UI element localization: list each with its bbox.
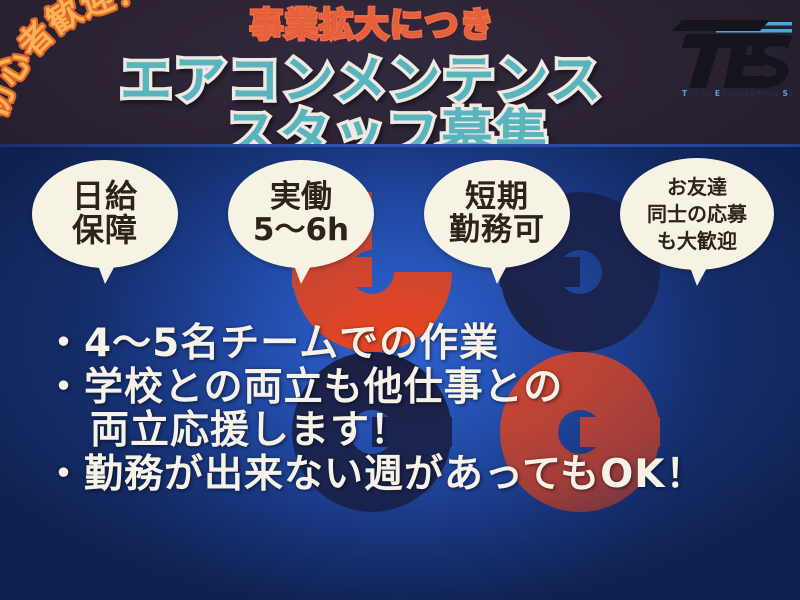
bullet-item-1: ・4〜5名チームでの作業 [44, 322, 784, 366]
bullet-marker-1: ・ [44, 321, 84, 366]
bubble-short-term-line1: 短期 [465, 181, 529, 214]
bubble-working-hours-line2: 5〜6h [253, 214, 349, 247]
benefit-bubbles: 日給 保障 実働 5〜6h 短期 勤務可 お友達 同士の応募 も大歓迎 [0, 155, 800, 285]
bullet-item-2-line1: 学校との両立も他仕事との [84, 365, 563, 410]
bubble-friends-welcome-line1: お友達 [667, 174, 727, 201]
bubble-daily-wage-line2: 保障 [72, 214, 138, 248]
poster-header: 初心者歓迎！ 事業拡大につき 事業拡大につき エアコンメンテンス エアコンメンテ… [0, 0, 800, 147]
bubble-short-term: 短期 勤務可 [424, 160, 570, 268]
bullet-item-3: ・勤務が出来ない週があってもOK！ [44, 453, 784, 497]
bullet-item-1-line1: 4〜5名チームでの作業 [84, 321, 499, 366]
tes-logo-tagline: TOTAL ENGINEERING SERVICE [682, 89, 794, 98]
job-ad-poster: 初心者歓迎！ 事業拡大につき 事業拡大につき エアコンメンテンス エアコンメンテ… [0, 0, 800, 600]
bubble-working-hours: 実働 5〜6h [228, 160, 374, 268]
bullet-marker-2: ・ [44, 365, 84, 410]
bullet-item-2-line2-row: 両立応援します！ [44, 409, 784, 453]
bubble-daily-wage-line1: 日給 [72, 180, 138, 214]
bubble-daily-wage: 日給 保障 [32, 160, 178, 268]
job-detail-list: ・4〜5名チームでの作業 ・学校との両立も他仕事との 両立応援します！ ・勤務が… [44, 322, 784, 497]
title-line2: スタッフ募集 [225, 92, 549, 147]
bubble-short-term-line2: 勤務可 [449, 214, 545, 247]
bullet-item-2: ・学校との両立も他仕事との [44, 366, 784, 410]
tes-logo: TOTAL ENGINEERING SERVICE [662, 6, 794, 98]
bullet-item-2-line2: 両立応援します！ [90, 408, 410, 453]
bullet-item-3-line1: 勤務が出来ない週があってもOK！ [84, 452, 705, 497]
bubble-friends-welcome-line2: 同士の応募 [647, 201, 747, 228]
bubble-friends-welcome-line3: も大歓迎 [657, 228, 737, 255]
bullet-marker-3: ・ [44, 452, 84, 497]
bubble-working-hours-line1: 実働 [270, 181, 332, 214]
bubble-friends-welcome: お友達 同士の応募 も大歓迎 [620, 158, 774, 270]
